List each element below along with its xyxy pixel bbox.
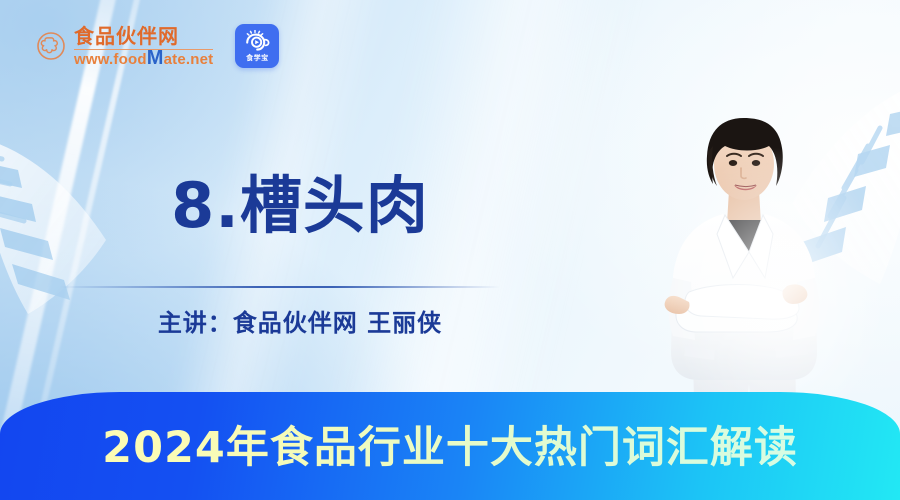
eye-play-icon (244, 30, 270, 52)
page-title: 8.槽头肉 (0, 175, 600, 237)
presenter-subtitle: 主讲：食品伙伴网 王丽侠 (0, 303, 600, 338)
foodmate-logo[interactable]: 食品伙伴网 www.foodMate.net (36, 26, 213, 67)
foodmate-cn-name: 食品伙伴网 (74, 26, 213, 46)
bottom-banner-text: 2024年食品行业十大热门词汇解读 (102, 413, 798, 479)
slide-canvas: 食品伙伴网 www.foodMate.net (0, 0, 900, 500)
flower-circle-icon (36, 31, 66, 61)
foodmate-rule (74, 49, 213, 50)
foodmate-url-prefix: www.food (74, 51, 147, 68)
header-logos: 食品伙伴网 www.foodMate.net (36, 24, 279, 68)
foodmate-url-suffix: ate.net (164, 51, 214, 68)
title-divider (60, 286, 500, 288)
shixuebao-logo[interactable]: 食学宝 (235, 24, 279, 68)
shixuebao-label: 食学宝 (246, 53, 269, 63)
foodmate-url-m: M (147, 47, 164, 69)
foodmate-url: www.foodMate.net (74, 52, 213, 67)
bottom-banner: 2024年食品行业十大热门词汇解读 (0, 392, 900, 500)
